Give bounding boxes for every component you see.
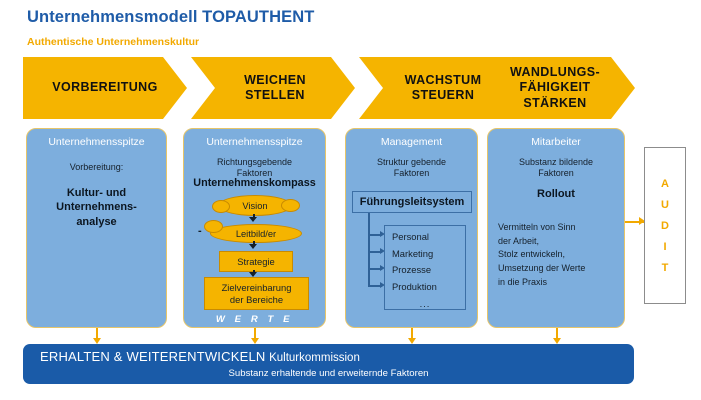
compass-arrow-2 xyxy=(249,244,257,249)
stage-panel-wachstum-steuern[interactable]: Management Struktur gebende Faktoren Füh… xyxy=(345,128,478,328)
bottom-bar-title-lead: ERHALTEN & WEITERENTWICKELN xyxy=(40,349,265,364)
audit-letter-i: I xyxy=(663,241,666,253)
panel-header-label: Unternehmensspitze xyxy=(184,136,325,148)
phase-chevron-band: VORBEREITUNG WEICHEN STELLEN WACHSTUM ST… xyxy=(23,57,635,119)
phase-label-stack: WANDLUNGS- FÄHIGKEIT STÄRKEN xyxy=(510,65,600,111)
panel-highlight-line3: analyse xyxy=(76,216,116,228)
audit-box[interactable]: A U D I T xyxy=(644,147,686,304)
fuehrungsleitsystem-label: Führungsleitsystem xyxy=(360,196,465,208)
panel-body-text: Vermitteln von Sinn der Arbeit, Stolz en… xyxy=(498,221,618,289)
panel-highlight-line2: Unternehmens- xyxy=(56,201,137,213)
phase-label-stack: WEICHEN STELLEN xyxy=(244,73,306,104)
phase-label: VORBEREITUNG xyxy=(52,80,158,95)
panel-body-line4: Umsetzung der Werte xyxy=(498,263,585,273)
panel-highlight: Unternehmenskompass xyxy=(184,177,325,189)
phase-label-line2: FÄHIGKEIT xyxy=(520,80,591,94)
phase-label-stack: WACHSTUM STEUERN xyxy=(405,73,482,104)
list-item[interactable]: Produktion xyxy=(385,279,465,296)
compass-node-vision[interactable]: Vision xyxy=(218,195,292,216)
compass-node-label: Strategie xyxy=(237,256,275,268)
panel-subtitle-line1: Substanz bildende xyxy=(519,157,593,167)
compass-node-label-line2: der Bereiche xyxy=(230,294,283,305)
bottom-summary-bar[interactable]: ERHALTEN & WEITERENTWICKELN Kulturkommis… xyxy=(23,344,634,384)
fls-trunk-line xyxy=(368,213,370,286)
page-title: Unternehmensmodell TOPAUTHENT xyxy=(27,8,314,27)
panel-subtitle: Struktur gebende Faktoren xyxy=(350,157,473,180)
list-item[interactable]: Prozesse xyxy=(385,262,465,279)
audit-letter-d: D xyxy=(661,220,669,232)
phase-chevron-wandlungsfaehigkeit-staerken[interactable]: WANDLUNGS- FÄHIGKEIT STÄRKEN xyxy=(471,57,637,119)
panel-header-label: Unternehmensspitze xyxy=(27,136,166,148)
panel-subtitle-line2: Faktoren xyxy=(394,168,430,178)
list-item[interactable]: Marketing xyxy=(385,246,465,263)
bottom-bar-subtitle: Substanz erhaltende und erweiternde Fakt… xyxy=(23,368,634,379)
audit-letter-a: A xyxy=(661,178,669,190)
compass-node-label-line1: Zielvereinbarung xyxy=(222,282,292,293)
panel-highlight: Rollout xyxy=(490,187,622,201)
panel-subtitle: Substanz bildende Faktoren xyxy=(492,157,620,180)
compass-dash-mark: - xyxy=(198,225,202,237)
phase-label-line1: WEICHEN xyxy=(244,73,306,87)
audit-letter-u: U xyxy=(661,199,669,211)
phase-chevron-vorbereitung[interactable]: VORBEREITUNG xyxy=(23,57,187,119)
phase-label-line1: WACHSTUM xyxy=(405,73,482,87)
panel-body-line1: Vermitteln von Sinn xyxy=(498,222,576,232)
panel-subtitle-line1: Richtungsgebende xyxy=(217,157,292,167)
fuehrungsleitsystem-list[interactable]: Personal Marketing Prozesse Produktion .… xyxy=(384,225,466,310)
compass-node-label: Leitbild/er xyxy=(236,229,276,239)
panel-header-label: Mitarbeiter xyxy=(488,136,624,148)
phase-label-line2: STEUERN xyxy=(412,88,475,102)
stage-panel-weichen-stellen[interactable]: Unternehmensspitze Richtungsgebende Fakt… xyxy=(183,128,326,328)
panel-subtitle-line2: Faktoren xyxy=(538,168,574,178)
stage-panel-vorbereitung[interactable]: Unternehmensspitze Vorbereitung: Kultur-… xyxy=(26,128,167,328)
compass-node-zielvereinbarung[interactable]: Zielvereinbarung der Bereiche xyxy=(204,277,309,310)
stage-panel-wandlungsfaehigkeit[interactable]: Mitarbeiter Substanz bildende Faktoren R… xyxy=(487,128,625,328)
phase-label-line3: STÄRKEN xyxy=(523,96,586,110)
compass-node-label: Vision xyxy=(242,201,267,211)
panel-header-label: Management xyxy=(346,136,477,148)
panel-highlight: Kultur- und Unternehmens- analyse xyxy=(29,186,164,229)
fuehrungsleitsystem-box[interactable]: Führungsleitsystem xyxy=(352,191,472,213)
compass-node-label: Zielvereinbarung der Bereiche xyxy=(222,282,292,306)
page-subtitle: Authentische Unternehmenskultur xyxy=(27,36,199,48)
compass-node-leitbild[interactable]: Leitbild/er xyxy=(210,224,302,243)
panel-subtitle-line1: Struktur gebende xyxy=(377,157,446,167)
panel-footer-werte: W E R T E xyxy=(184,314,325,325)
bottom-bar-title: ERHALTEN & WEITERENTWICKELN Kulturkommis… xyxy=(40,349,360,364)
compass-node-strategie[interactable]: Strategie xyxy=(219,251,293,272)
panel-body-line3: Stolz entwickeln, xyxy=(498,249,565,259)
panel-body-line5: in die Praxis xyxy=(498,277,547,287)
bottom-bar-title-tail: Kulturkommission xyxy=(269,352,360,364)
phase-label-line2: STELLEN xyxy=(245,88,305,102)
panel-highlight-line1: Kultur- und xyxy=(67,187,126,199)
phase-chevron-weichen-stellen[interactable]: WEICHEN STELLEN xyxy=(191,57,357,119)
panel-subtitle: Vorbereitung: xyxy=(31,162,162,173)
audit-letter-t: T xyxy=(662,262,669,274)
phase-label-line1: WANDLUNGS- xyxy=(510,65,600,79)
panel-body-line2: der Arbeit, xyxy=(498,236,539,246)
compass-arrow-1 xyxy=(249,217,257,222)
list-item[interactable]: Personal xyxy=(385,229,465,246)
list-item-ellipsis: ... xyxy=(385,296,465,311)
